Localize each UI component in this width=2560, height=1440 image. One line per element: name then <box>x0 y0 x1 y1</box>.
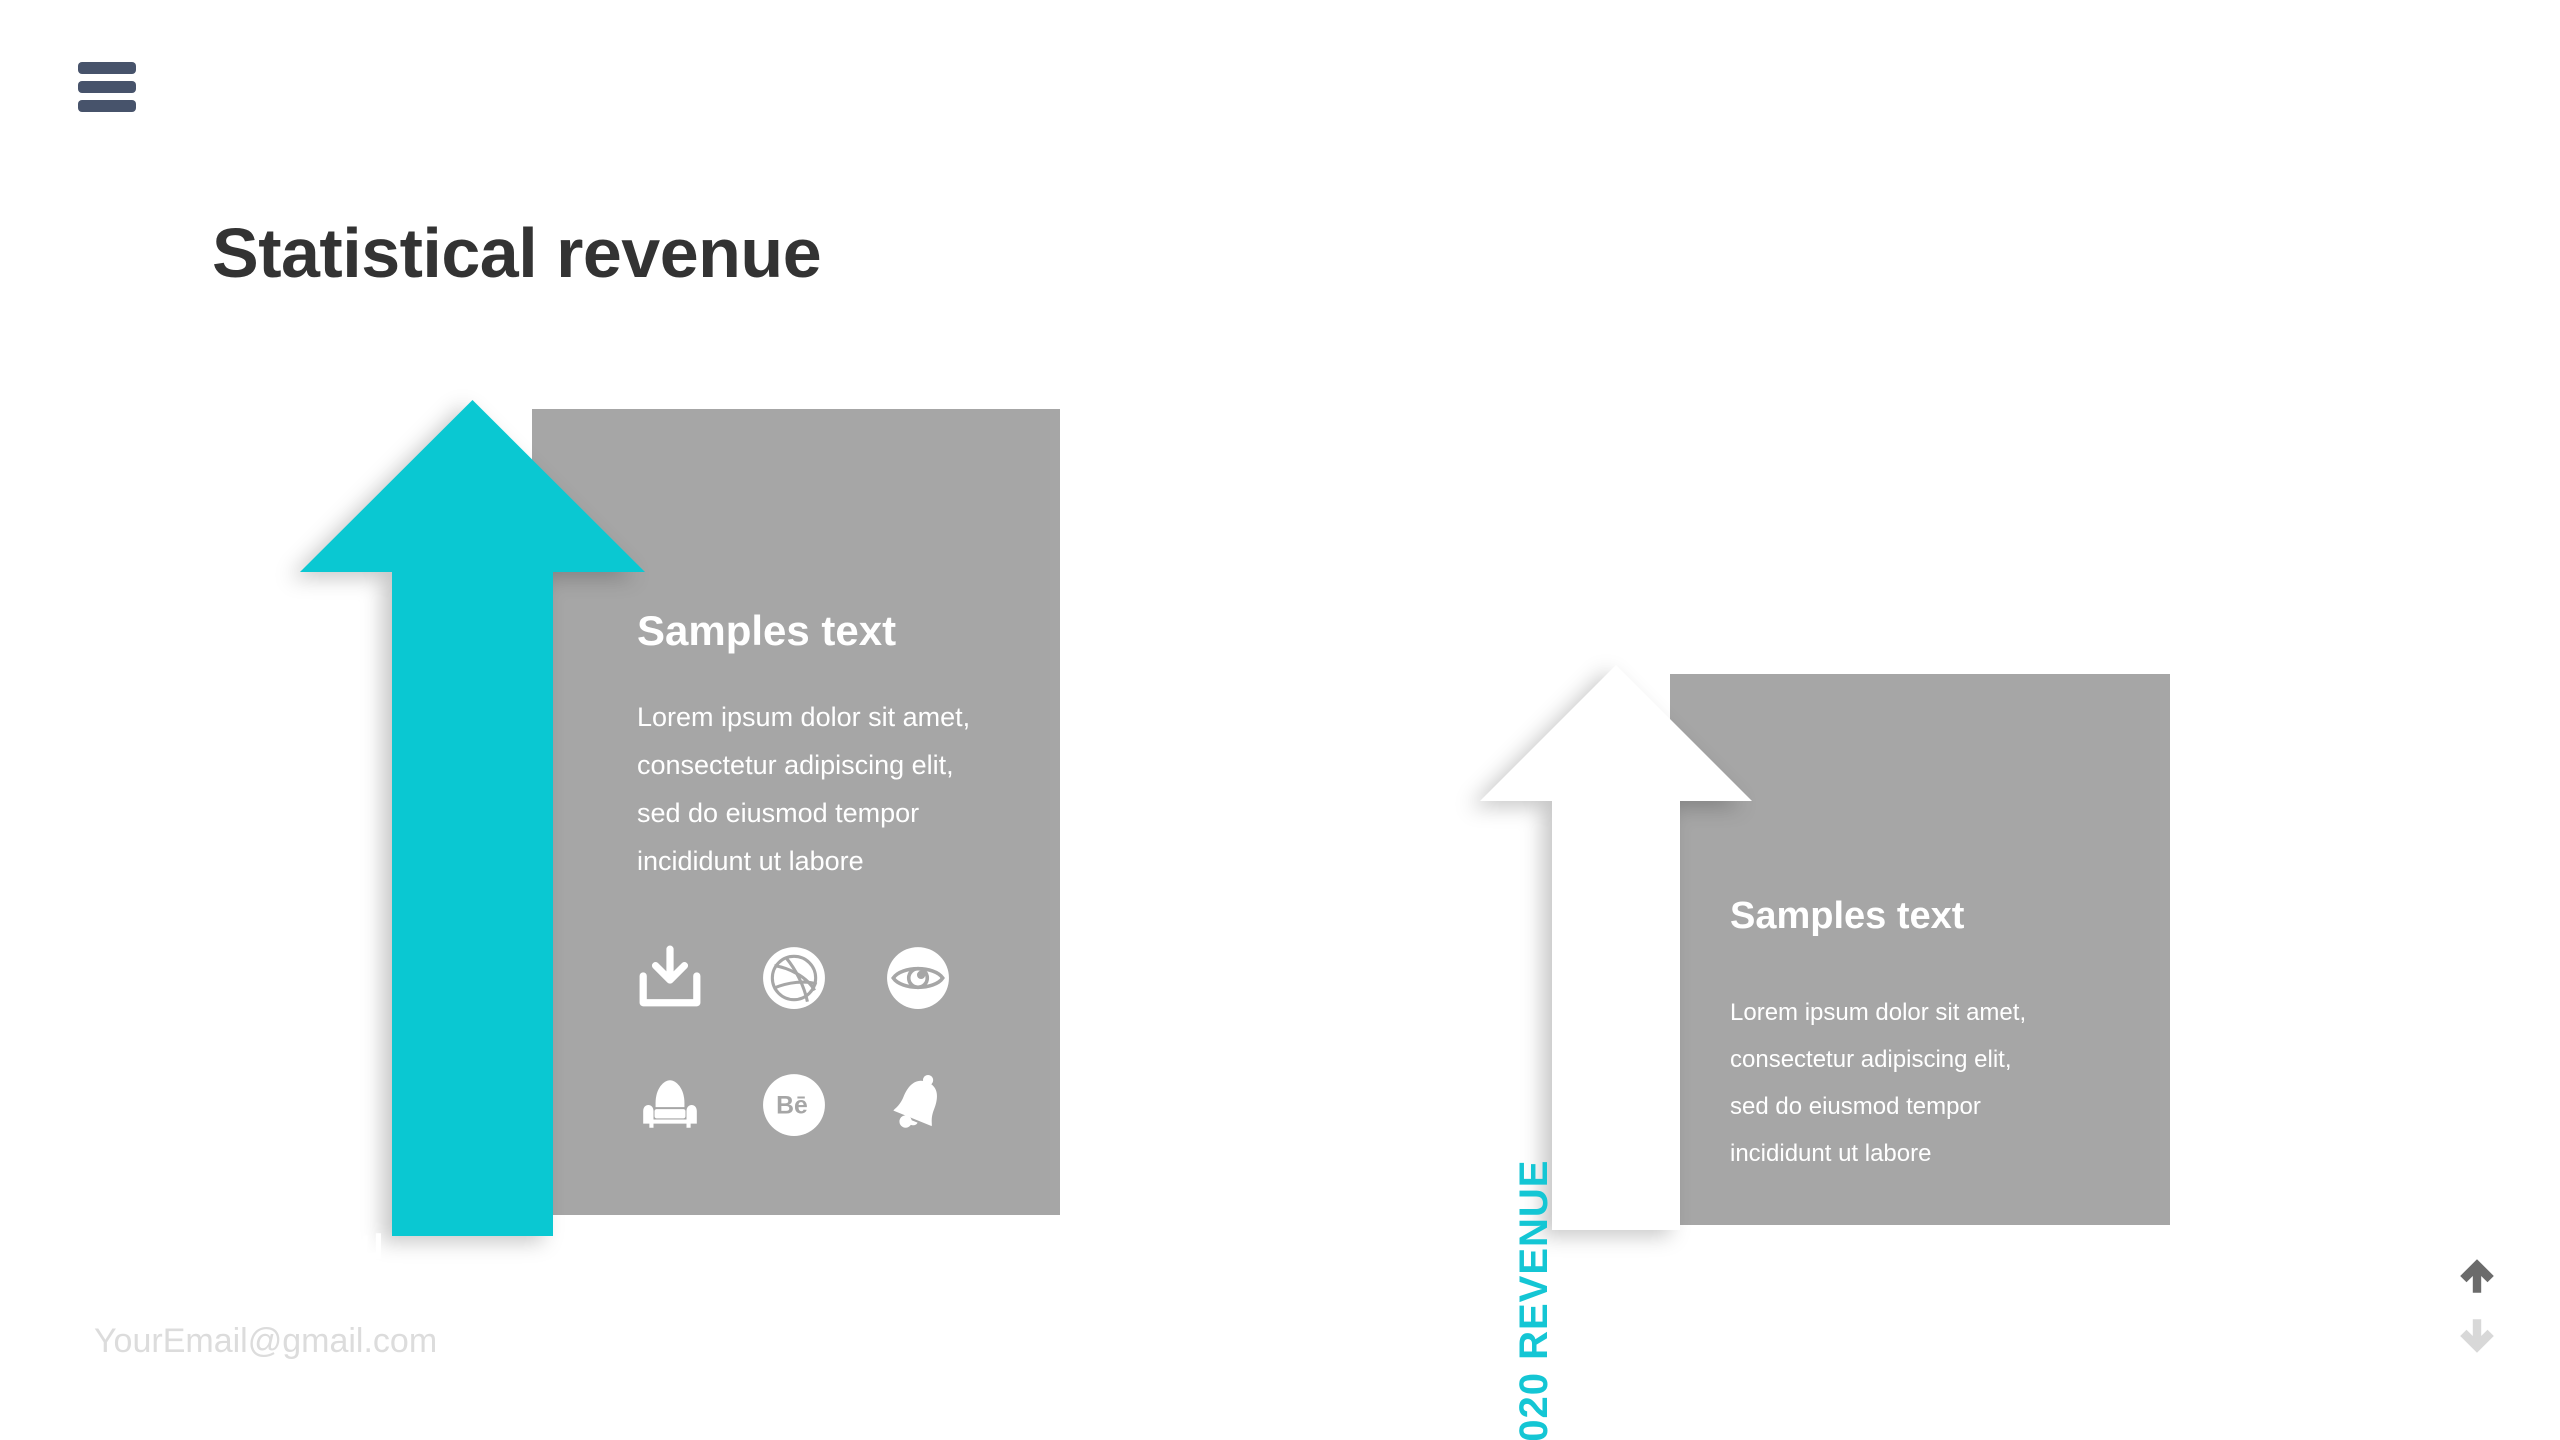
card-body-line-1: Lorem ipsum dolor sit amet, <box>637 693 970 741</box>
behance-icon[interactable]: Bē <box>761 1072 827 1138</box>
card-body-line-3: sed do eiusmod tempor <box>1730 1083 2026 1130</box>
card-body-2020: Lorem ipsum dolor sit amet, consectetur … <box>1730 989 2026 1177</box>
revenue-card-2019: 2019 REVENUE Samples text Lorem ipsum do… <box>300 400 1060 1250</box>
up-arrow-shape-2019 <box>300 400 645 1236</box>
card-body-line-4: incididunt ut labore <box>637 837 970 885</box>
card-heading-2020: Samples text <box>1730 895 1964 938</box>
card-body-line-2: consectetur adipiscing elit, <box>1730 1036 2026 1083</box>
download-inbox-icon[interactable] <box>637 945 703 1011</box>
slide-navigation <box>2456 1255 2498 1357</box>
arrow-down-icon[interactable] <box>2456 1315 2498 1357</box>
card-body-line-4: incididunt ut labore <box>1730 1130 2026 1177</box>
eye-icon[interactable] <box>885 945 951 1011</box>
slide-canvas: Statistical revenue 2019 REVENUE Samples… <box>0 0 2560 1440</box>
hamburger-bar-2 <box>78 81 136 93</box>
card-body-line-2: consectetur adipiscing elit, <box>637 741 970 789</box>
revenue-card-2020: 2020 REVENUE Samples text Lorem ipsum do… <box>1480 665 2170 1245</box>
card-icon-grid-2019: Bē <box>637 945 1009 1199</box>
card-body-line-3: sed do eiusmod tempor <box>637 789 970 837</box>
page-title: Statistical revenue <box>212 215 821 292</box>
dribbble-icon[interactable] <box>761 945 827 1011</box>
card-heading-2019: Samples text <box>637 607 896 655</box>
hamburger-menu-icon[interactable] <box>78 62 136 112</box>
armchair-icon[interactable] <box>637 1072 703 1138</box>
revenue-year-label-2020: 2020 REVENUE <box>1512 1160 1557 1440</box>
card-body-2019: Lorem ipsum dolor sit amet, consectetur … <box>637 693 970 885</box>
card-body-line-1: Lorem ipsum dolor sit amet, <box>1730 989 2026 1036</box>
svg-text:Bē: Bē <box>776 1092 808 1119</box>
hamburger-bar-1 <box>78 62 136 74</box>
up-arrow-shape-2020 <box>1480 665 1752 1230</box>
arrow-up-icon[interactable] <box>2456 1255 2498 1297</box>
hamburger-bar-3 <box>78 100 136 112</box>
footer-email: YourEmail@gmail.com <box>94 1322 437 1361</box>
bell-icon[interactable] <box>885 1072 951 1138</box>
